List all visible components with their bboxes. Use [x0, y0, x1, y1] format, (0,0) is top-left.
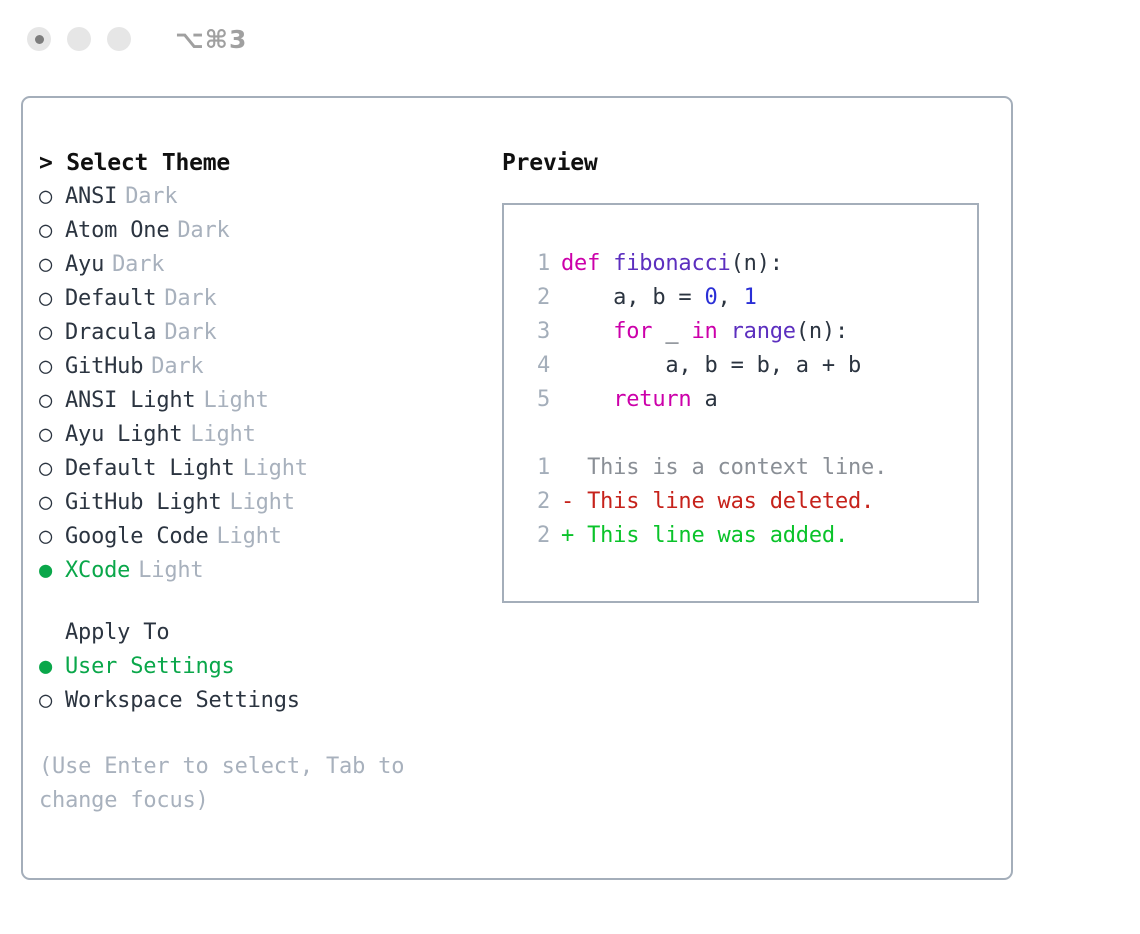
token-del: - This line was deleted.	[561, 489, 874, 514]
record-dot-icon	[35, 35, 44, 44]
apply-option-label: User Settings	[65, 650, 235, 684]
code-line: 3 for _ in range(n):	[522, 315, 977, 349]
token-pl: a, b =	[561, 285, 705, 310]
token-pl	[718, 319, 731, 344]
window-titlebar: ⌥⌘3	[0, 0, 1140, 78]
token-add: + This line was added.	[561, 523, 848, 548]
keyboard-hint-text: (Use Enter to select, Tab to change focu…	[39, 750, 459, 818]
theme-selection-column: > Select Theme ○ANSIDark○Atom OneDark○Ay…	[39, 146, 499, 818]
radio-unselected-icon: ○	[39, 316, 65, 350]
line-content: for _ in range(n):	[561, 315, 848, 349]
theme-option-label: Dracula	[65, 316, 156, 350]
theme-picker-panel: > Select Theme ○ANSIDark○Atom OneDark○Ay…	[21, 96, 1013, 880]
window-light-2-icon[interactable]	[67, 27, 91, 51]
theme-option-variant: Dark	[112, 248, 164, 282]
theme-option-variant: Dark	[151, 350, 203, 384]
theme-list: ○ANSIDark○Atom OneDark○AyuDark○DefaultDa…	[39, 180, 499, 588]
apply-to-list: ●User Settings○Workspace Settings	[39, 650, 499, 718]
diff-preview-block: 1 This is a context line.2- This line wa…	[522, 451, 977, 553]
radio-unselected-icon: ○	[39, 684, 65, 718]
code-line: 2 a, b = 0, 1	[522, 281, 977, 315]
line-content: - This line was deleted.	[561, 485, 874, 519]
apply-option-workspace-settings[interactable]: ○Workspace Settings	[39, 684, 499, 718]
apply-option-user-settings[interactable]: ●User Settings	[39, 650, 499, 684]
theme-option-github-light[interactable]: ○GitHub LightLight	[39, 486, 499, 520]
token-fn: range	[731, 319, 796, 344]
apply-option-label: Workspace Settings	[65, 684, 300, 718]
line-number: 2	[522, 519, 550, 553]
theme-option-label: GitHub Light	[65, 486, 222, 520]
code-diff-spacer	[522, 417, 977, 451]
line-content: a, b = b, a + b	[561, 349, 861, 383]
theme-option-variant: Light	[190, 418, 255, 452]
theme-option-label: Atom One	[65, 214, 169, 248]
token-pl: (	[731, 251, 744, 276]
theme-option-label: Default Light	[65, 452, 235, 486]
radio-selected-icon: ●	[39, 554, 65, 588]
theme-option-variant: Light	[230, 486, 295, 520]
theme-option-variant: Dark	[125, 180, 177, 214]
preview-column: Preview 1def fibonacci(n):2 a, b = 0, 13…	[502, 146, 1002, 603]
token-pl	[600, 251, 613, 276]
theme-option-variant: Dark	[164, 316, 216, 350]
radio-unselected-icon: ○	[39, 452, 65, 486]
window-traffic-lights	[27, 27, 131, 51]
token-pl: _	[652, 319, 691, 344]
theme-option-label: GitHub	[65, 350, 143, 384]
apply-to-header: Apply To	[39, 616, 499, 650]
code-preview-block: 1def fibonacci(n):2 a, b = 0, 13 for _ i…	[522, 247, 977, 417]
token-kw: for	[613, 319, 652, 344]
token-pl: ):	[757, 251, 783, 276]
theme-option-variant: Light	[243, 452, 308, 486]
theme-option-ansi-light[interactable]: ○ANSI LightLight	[39, 384, 499, 418]
theme-option-variant: Dark	[164, 282, 216, 316]
line-number: 1	[522, 247, 550, 281]
theme-option-label: Ayu	[65, 248, 104, 282]
keyboard-shortcut-label: ⌥⌘3	[175, 25, 247, 54]
line-number: 2	[522, 485, 550, 519]
radio-unselected-icon: ○	[39, 350, 65, 384]
radio-unselected-icon: ○	[39, 486, 65, 520]
diff-line: 2+ This line was added.	[522, 519, 977, 553]
token-pl: n	[744, 251, 757, 276]
theme-option-google-code[interactable]: ○Google CodeLight	[39, 520, 499, 554]
radio-unselected-icon: ○	[39, 418, 65, 452]
radio-unselected-icon: ○	[39, 248, 65, 282]
token-pl	[561, 319, 613, 344]
line-number: 3	[522, 315, 550, 349]
window-light-3-icon[interactable]	[107, 27, 131, 51]
line-content: def fibonacci(n):	[561, 247, 783, 281]
line-content: This is a context line.	[561, 451, 887, 485]
line-content: + This line was added.	[561, 519, 848, 553]
token-num: 0	[705, 285, 718, 310]
token-pl: (n):	[796, 319, 848, 344]
token-kw: def	[561, 251, 600, 276]
line-number: 2	[522, 281, 550, 315]
section-spacer	[39, 588, 499, 616]
theme-option-default-light[interactable]: ○Default LightLight	[39, 452, 499, 486]
theme-option-variant: Light	[203, 384, 268, 418]
theme-option-label: XCode	[65, 554, 130, 588]
radio-unselected-icon: ○	[39, 520, 65, 554]
line-content: a, b = 0, 1	[561, 281, 757, 315]
theme-option-label: Google Code	[65, 520, 209, 554]
code-line: 5 return a	[522, 383, 977, 417]
preview-title: Preview	[502, 146, 1002, 180]
token-pl: ,	[718, 285, 744, 310]
line-number: 1	[522, 451, 550, 485]
app-window: ⌥⌘3 > Select Theme ○ANSIDark○Atom OneDar…	[0, 0, 1140, 934]
theme-option-label: ANSI Light	[65, 384, 195, 418]
theme-option-dracula[interactable]: ○DraculaDark	[39, 316, 499, 350]
theme-option-variant: Light	[138, 554, 203, 588]
radio-selected-icon: ●	[39, 650, 65, 684]
token-pl: a	[691, 387, 717, 412]
token-kw: in	[691, 319, 717, 344]
token-fn: fibonacci	[613, 251, 730, 276]
line-number: 5	[522, 383, 550, 417]
diff-line: 2- This line was deleted.	[522, 485, 977, 519]
token-pl: a, b = b, a + b	[561, 353, 861, 378]
radio-unselected-icon: ○	[39, 384, 65, 418]
theme-option-atom-one[interactable]: ○Atom OneDark	[39, 214, 499, 248]
theme-option-github[interactable]: ○GitHubDark	[39, 350, 499, 384]
line-number: 4	[522, 349, 550, 383]
theme-option-variant: Light	[217, 520, 282, 554]
theme-option-default[interactable]: ○DefaultDark	[39, 282, 499, 316]
select-theme-header: > Select Theme	[39, 146, 499, 180]
token-num: 1	[744, 285, 757, 310]
radio-unselected-icon: ○	[39, 282, 65, 316]
theme-option-xcode[interactable]: ●XCodeLight	[39, 554, 499, 588]
diff-line: 1 This is a context line.	[522, 451, 977, 485]
theme-option-ayu[interactable]: ○AyuDark	[39, 248, 499, 282]
line-content: return a	[561, 383, 718, 417]
radio-unselected-icon: ○	[39, 214, 65, 248]
code-line: 1def fibonacci(n):	[522, 247, 977, 281]
preview-box: 1def fibonacci(n):2 a, b = 0, 13 for _ i…	[502, 203, 979, 603]
radio-unselected-icon: ○	[39, 180, 65, 214]
token-kw: return	[613, 387, 691, 412]
record-indicator-icon[interactable]	[27, 27, 51, 51]
code-line: 4 a, b = b, a + b	[522, 349, 977, 383]
theme-option-ansi[interactable]: ○ANSIDark	[39, 180, 499, 214]
theme-option-variant: Dark	[177, 214, 229, 248]
theme-option-label: Ayu Light	[65, 418, 182, 452]
theme-option-ayu-light[interactable]: ○Ayu LightLight	[39, 418, 499, 452]
theme-option-label: ANSI	[65, 180, 117, 214]
theme-option-label: Default	[65, 282, 156, 316]
token-ctx: This is a context line.	[561, 455, 887, 480]
token-pl	[561, 387, 613, 412]
